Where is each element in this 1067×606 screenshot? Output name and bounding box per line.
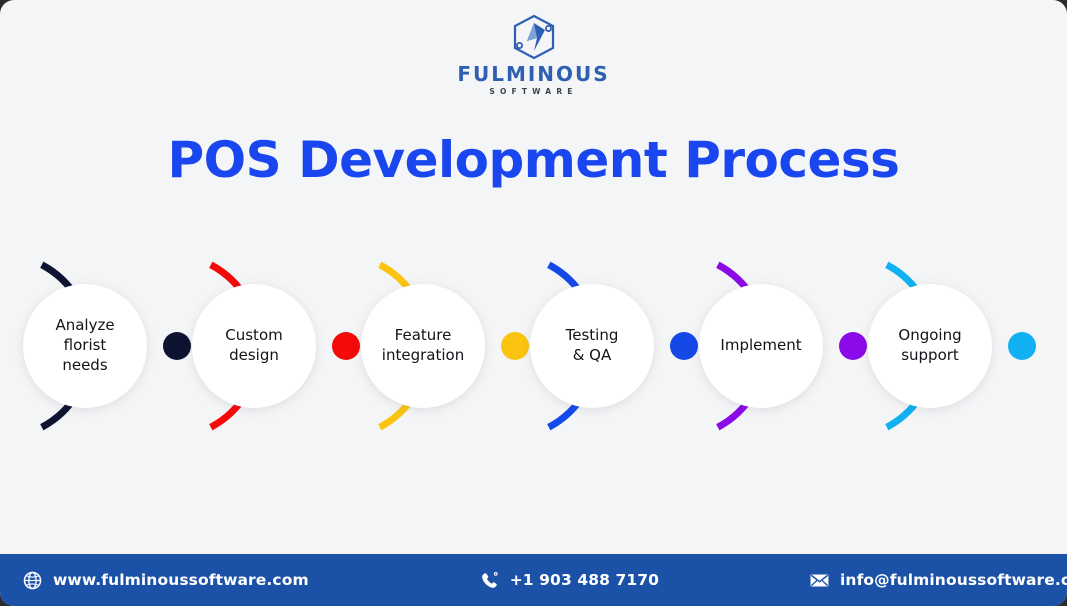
footer-website-text: www.fulminoussoftware.com <box>53 571 309 589</box>
step-label: Testing & QA <box>560 326 625 366</box>
brand-wordmark: FULMINOUS <box>457 64 609 84</box>
brand-subword: SOFTWARE <box>489 88 577 96</box>
step-label: Custom design <box>219 326 288 366</box>
step-bubble[interactable]: Analyze florist needs <box>23 284 147 408</box>
footer-phone[interactable]: +1 903 488 7170 <box>479 570 659 591</box>
step-bubble[interactable]: Ongoing support <box>868 284 992 408</box>
phone-icon <box>479 570 500 591</box>
footer-email-text: info@fulminoussoftware.com <box>840 571 1067 589</box>
hexagon-lightning-logo-icon <box>506 12 562 62</box>
infographic-canvas: FULMINOUS SOFTWARE POS Development Proce… <box>0 0 1067 606</box>
step-bubble[interactable]: Testing & QA <box>530 284 654 408</box>
globe-icon <box>22 570 43 591</box>
step-label: Implement <box>714 336 807 356</box>
process-steps: Analyze florist needsCustom designFeatur… <box>0 252 1067 462</box>
process-step: Ongoing support <box>863 252 1067 462</box>
footer-email[interactable]: info@fulminoussoftware.com <box>809 570 1067 591</box>
step-bubble[interactable]: Implement <box>699 284 823 408</box>
page-title: POS Development Process <box>0 133 1067 188</box>
footer-website[interactable]: www.fulminoussoftware.com <box>22 570 309 591</box>
step-dot-ongoing-support <box>1008 332 1036 360</box>
step-label: Feature integration <box>376 326 470 366</box>
step-bubble[interactable]: Custom design <box>192 284 316 408</box>
step-bubble[interactable]: Feature integration <box>361 284 485 408</box>
step-label: Ongoing support <box>892 326 967 366</box>
contact-footer: www.fulminoussoftware.com +1 903 488 717… <box>0 554 1067 606</box>
footer-phone-text: +1 903 488 7170 <box>510 571 659 589</box>
step-label: Analyze florist needs <box>49 316 120 375</box>
brand-logo: FULMINOUS SOFTWARE <box>0 12 1067 96</box>
envelope-icon <box>809 570 830 591</box>
